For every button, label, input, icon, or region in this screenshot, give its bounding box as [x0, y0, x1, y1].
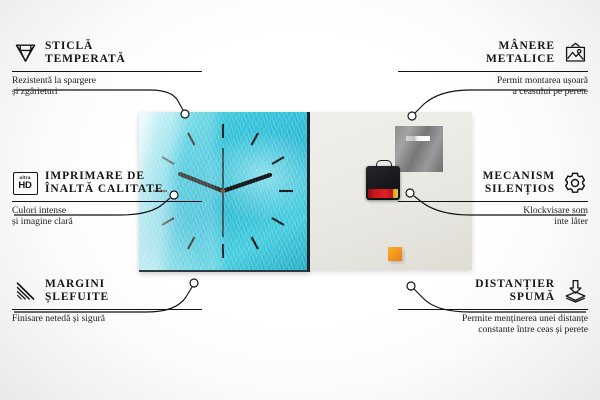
- infographic-canvas: STICLĂTEMPERATĂ Rezistentă la spargereși…: [0, 0, 600, 400]
- gear-icon: [562, 170, 588, 196]
- feature-header: MÂNEREMETALICE: [398, 38, 588, 68]
- feature-title: IMPRIMARE DEÎNALTĂ CALITATE: [45, 170, 163, 197]
- picture-hanger-icon: [562, 40, 588, 66]
- feature-foam-spacer: DISTANȚIERSPUMĂ Permite menținerea unei …: [398, 276, 588, 336]
- foam-spacer-icon: [562, 278, 588, 304]
- divider: [398, 309, 588, 310]
- feature-tempered-glass: STICLĂTEMPERATĂ Rezistentă la spargereși…: [12, 38, 202, 98]
- polished-edges-icon: [12, 278, 38, 304]
- diamond-icon: [12, 40, 38, 66]
- feature-title: STICLĂTEMPERATĂ: [45, 40, 126, 67]
- metal-hanger-plate: [395, 126, 443, 172]
- divider: [12, 71, 202, 72]
- feature-description: Culori intenseși imagine clară: [12, 205, 202, 228]
- ultra-hd-badge: ultra HD: [13, 172, 38, 195]
- divider: [12, 201, 202, 202]
- feature-description: Rezistentă la spargereși zgârieturi: [12, 75, 202, 98]
- clock-hour-hand: [223, 175, 270, 191]
- foam-spacer-pad: [388, 247, 402, 261]
- feature-title: MECANISMSILENȚIOS: [483, 170, 555, 197]
- battery: [368, 189, 398, 198]
- feature-description: Finisare netedă și sigură: [12, 313, 202, 324]
- mechanism-hanging-loop: [376, 160, 392, 169]
- feature-description: Klockvisare sominte låter: [398, 205, 588, 228]
- feature-polished-edges: MARGINIȘLEFUITE Finisare netedă și sigur…: [12, 276, 202, 324]
- feature-header: MARGINIȘLEFUITE: [12, 276, 202, 306]
- feature-header: STICLĂTEMPERATĂ: [12, 38, 202, 68]
- feature-description: Permit montarea ușoarăa ceasului pe pere…: [398, 75, 588, 98]
- feature-title: MÂNEREMETALICE: [486, 40, 555, 67]
- divider: [398, 71, 588, 72]
- feature-header: ultra HD IMPRIMARE DEÎNALTĂ CALITATE: [12, 168, 202, 198]
- feature-description: Permite menținerea unei distanțeconstant…: [398, 313, 588, 336]
- divider: [12, 309, 202, 310]
- feature-high-quality-print: ultra HD IMPRIMARE DEÎNALTĂ CALITATE Cul…: [12, 168, 202, 228]
- feature-title: MARGINIȘLEFUITE: [45, 278, 109, 305]
- ultra-hd-icon: ultra HD: [12, 170, 38, 196]
- clock-center-cap: [221, 189, 226, 194]
- hanger-slot: [406, 136, 430, 141]
- feature-silent-movement: MECANISMSILENȚIOS Klockvisare sominte lå…: [398, 168, 588, 228]
- feature-header: MECANISMSILENȚIOS: [398, 168, 588, 198]
- divider: [398, 201, 588, 202]
- feature-title: DISTANȚIERSPUMĂ: [475, 278, 555, 305]
- feature-header: DISTANȚIERSPUMĂ: [398, 276, 588, 306]
- feature-metal-handles: MÂNEREMETALICE Permit montarea ușoarăa c…: [398, 38, 588, 98]
- clock-mechanism: [366, 166, 400, 200]
